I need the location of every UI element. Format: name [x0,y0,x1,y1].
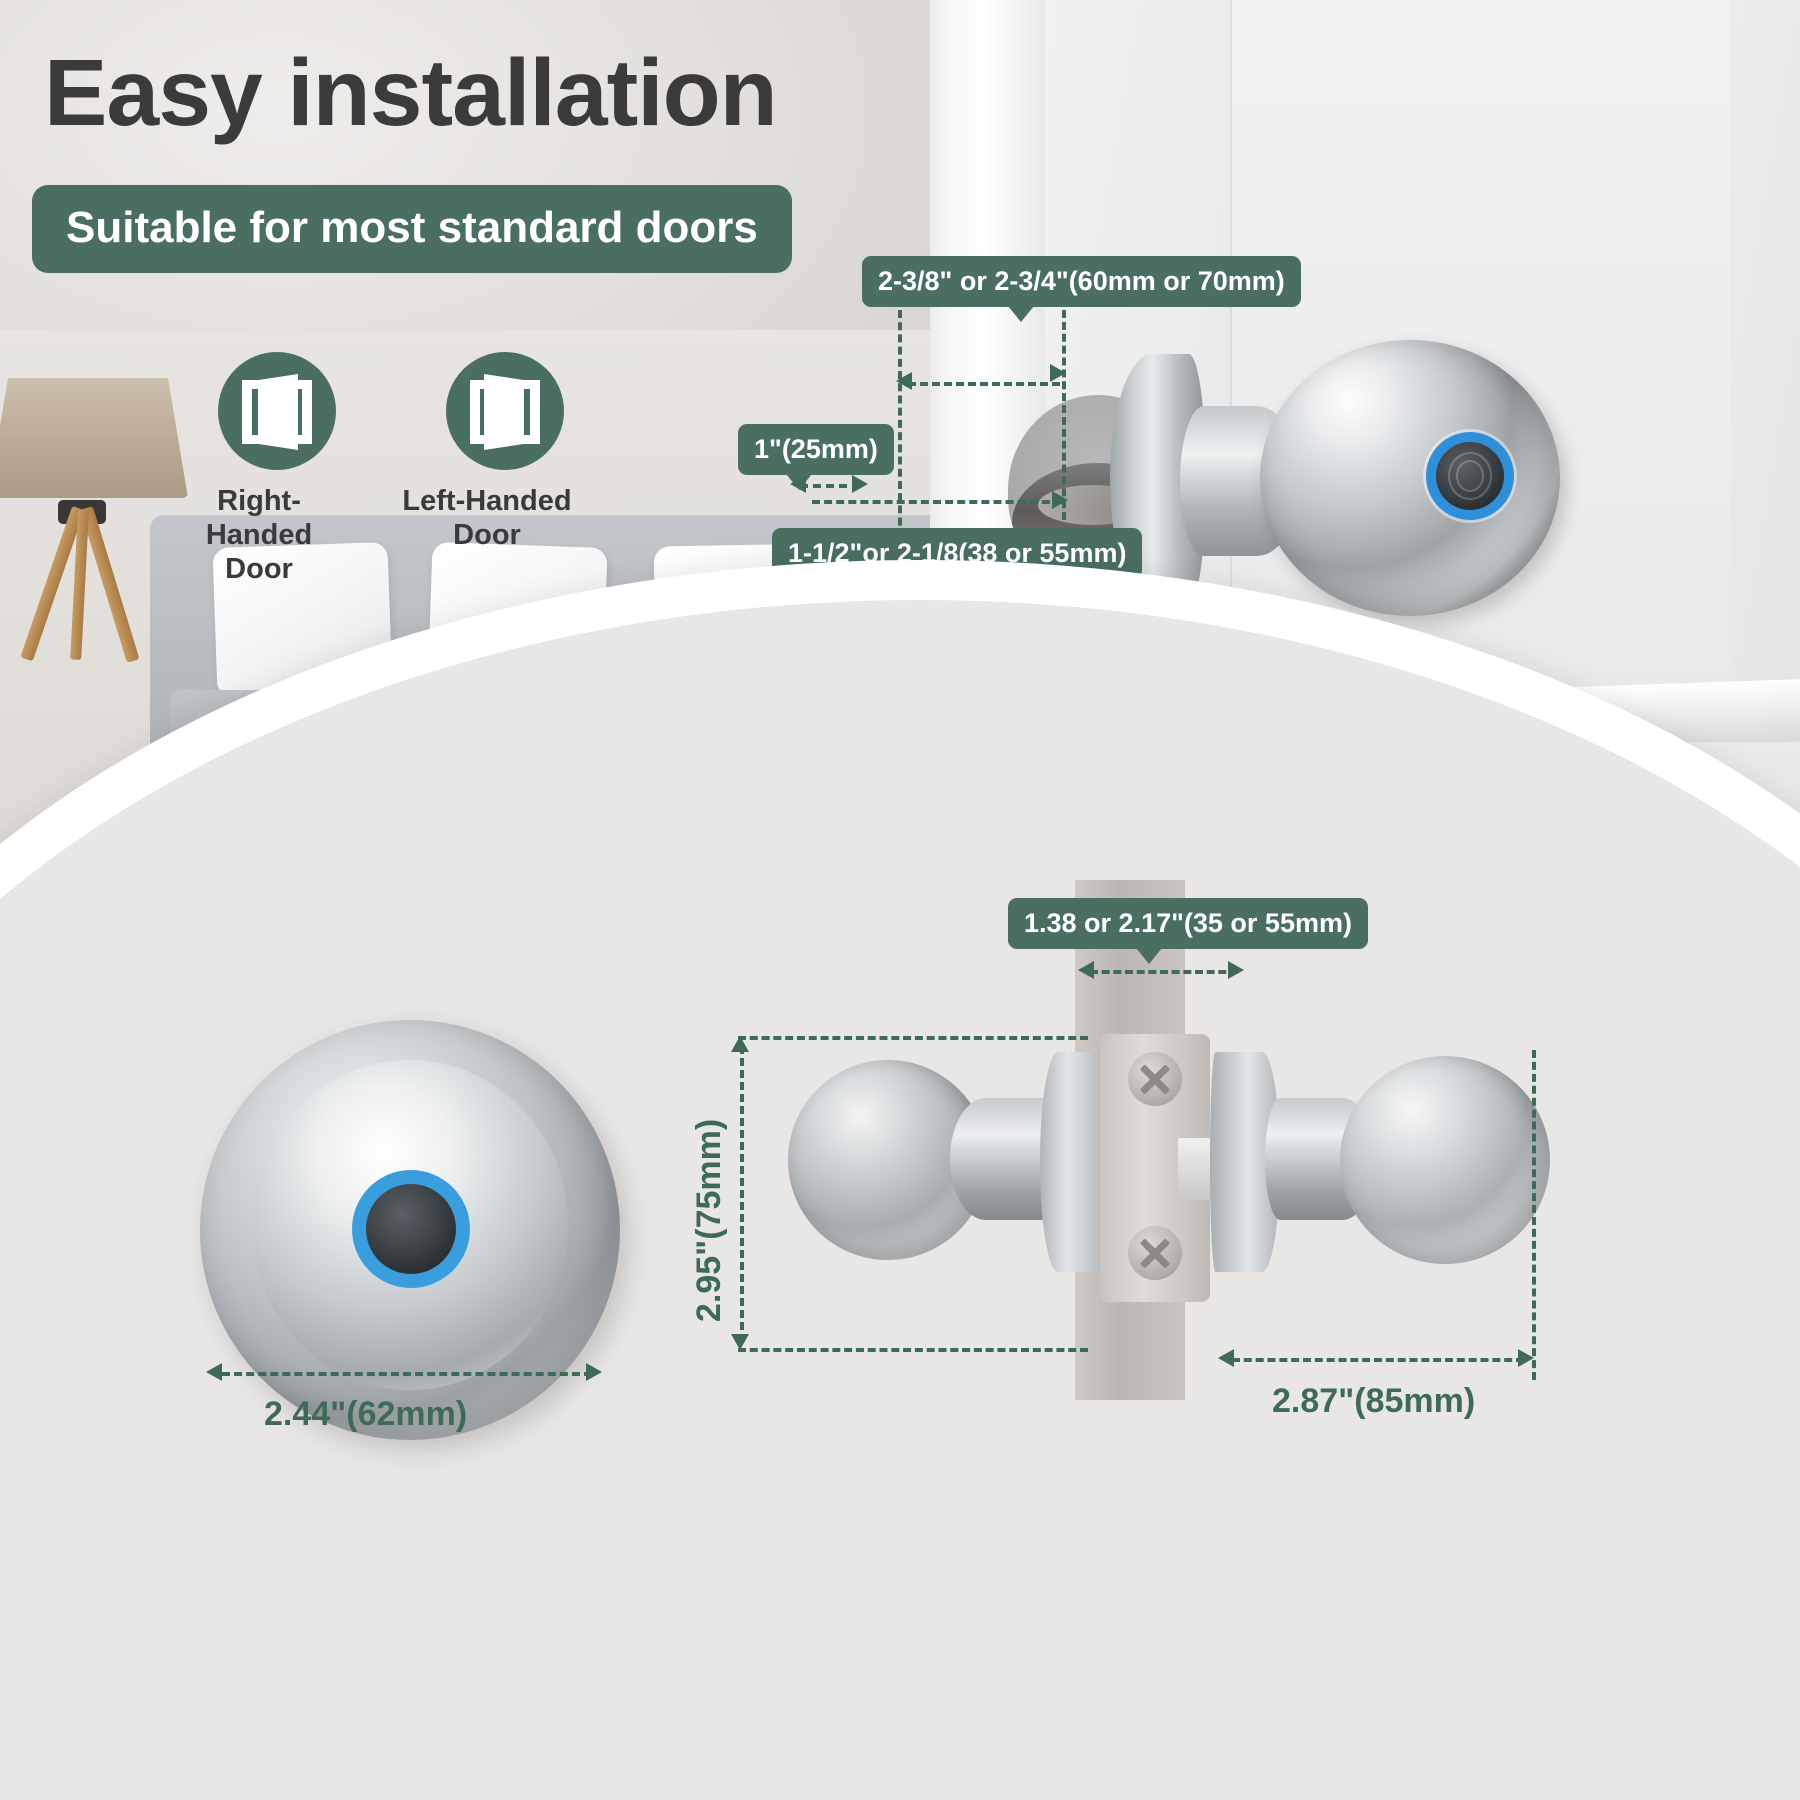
knob-height-text: 2.95"(75mm) [690,1119,729,1322]
knob-height-guide-top [738,1036,1088,1040]
screw-icon [1128,1052,1182,1106]
edge-bore-arrow-left [790,475,806,493]
handedness-right-line2: Door [164,552,354,586]
backset-arrow-right [1050,364,1066,382]
backset-guide-right [1062,310,1066,520]
knob-height-arrow-down [731,1334,749,1350]
projection-dimension-line [1232,1358,1524,1362]
subtitle-badge: Suitable for most standard doors [32,185,792,273]
door-open-left-icon [446,352,564,470]
lamp-leg [80,506,139,663]
handedness-left-line2: Door [392,518,582,552]
callout-door-thickness: 1.38 or 2.17"(35 or 55mm) [1008,898,1368,949]
callout-edge-bore: 1"(25mm) [738,424,894,475]
backset-dimension-line [908,382,1060,386]
knob-ball [1260,340,1560,616]
callout-tail [1136,948,1162,964]
door-thickness-arrow-right [1228,961,1244,979]
screw-icon [1128,1226,1182,1280]
handedness-left-label: Left-Handed Door [392,484,582,552]
rose-diameter-line [222,1372,592,1376]
callout-backset: 2-3/8" or 2-3/4"(60mm or 70mm) [862,256,1301,307]
handedness-right-line1: Right-Handed [164,484,354,552]
handedness-left: Left-Handed Door [428,352,582,552]
projection-arrow-right [1518,1349,1534,1367]
cross-bore-arrow-right [1052,491,1068,509]
knob-front-view [200,1020,620,1440]
projection-guide-right [1532,1050,1536,1380]
edge-bore-arrow-right [852,475,868,493]
handedness-left-line1: Left-Handed [392,484,582,518]
rose-diameter-text: 2.44"(62mm) [264,1395,467,1434]
callout-tail [1008,306,1034,322]
cross-bore-dimension-line [812,500,1062,504]
lamp-shade-icon [0,378,188,498]
edge-bore-dimension-line [800,484,860,488]
page-title: Easy installation [44,46,777,141]
projection-arrow-left [1218,1349,1234,1367]
knob-height-dimension-line [740,1046,744,1342]
backset-arrow-left [896,372,912,390]
callout-door-thickness-text: 1.38 or 2.17"(35 or 55mm) [1024,908,1352,938]
handedness-right: Right-Handed Door [200,352,354,587]
fingerprint-icon [1436,442,1504,510]
rose-diameter-arrow-left [206,1363,222,1381]
door-thickness-arrow-left [1078,961,1094,979]
handedness-right-label: Right-Handed Door [164,484,354,587]
knob-height-guide-bottom [738,1348,1088,1352]
fingerprint-icon [366,1184,456,1274]
callout-backset-text: 2-3/8" or 2-3/4"(60mm or 70mm) [878,266,1285,296]
callout-edge-bore-text: 1"(25mm) [754,434,878,464]
door-open-right-icon [218,352,336,470]
exterior-knob [1340,1056,1550,1264]
rose-diameter-arrow-right [586,1363,602,1381]
knob-side-view-assembly [760,1030,1590,1360]
infographic-canvas: 2-3/8" or 2-3/4"(60mm or 70mm) 1"(25mm) … [0,0,1800,1800]
knob-height-arrow-up [731,1036,749,1052]
backset-guide-left [898,310,902,550]
projection-text: 2.87"(85mm) [1272,1382,1475,1421]
door-thickness-line [1090,970,1238,974]
